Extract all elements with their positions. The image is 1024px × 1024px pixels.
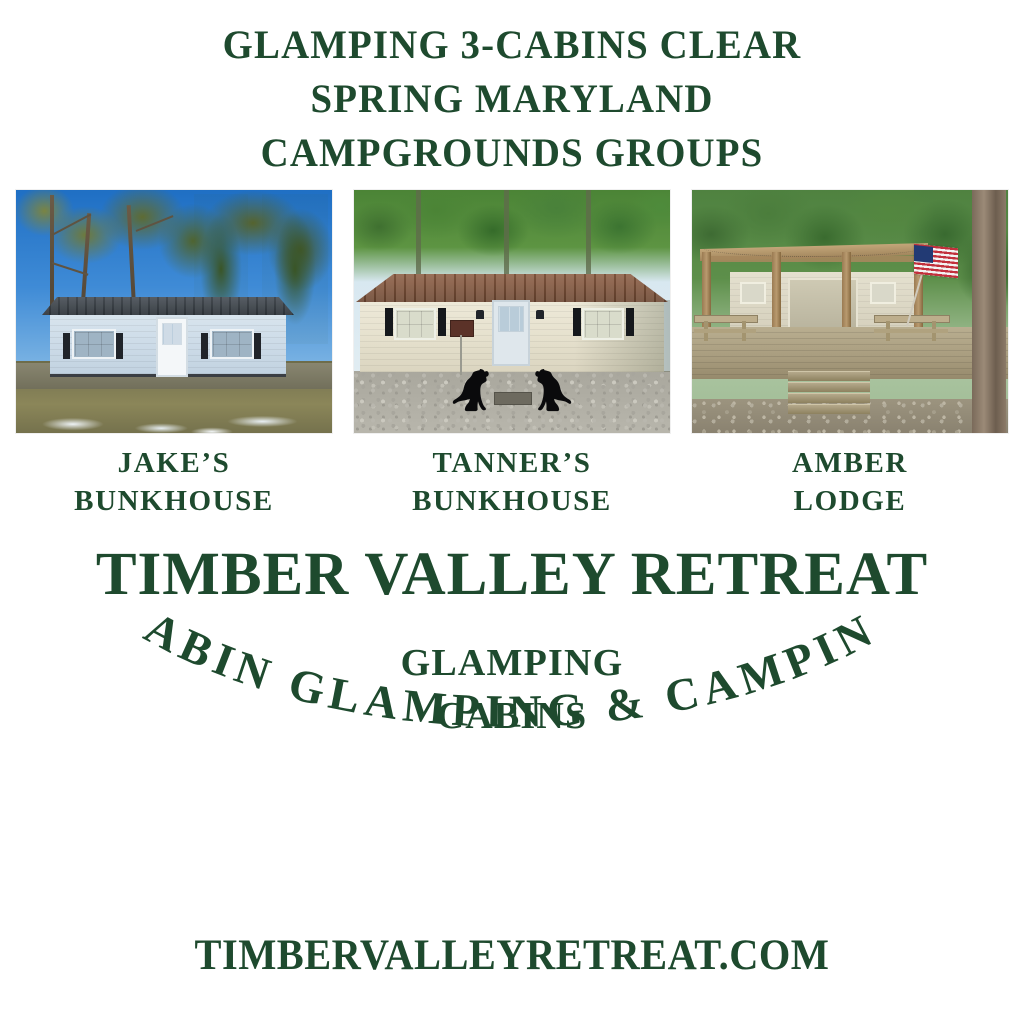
string-lights bbox=[702, 238, 922, 257]
headline-line-3: CAMPGROUNDS GROUPS bbox=[15, 126, 1008, 180]
window-shutter bbox=[201, 333, 208, 359]
brand-subtitle: GLAMPING CABINS bbox=[0, 637, 1024, 743]
black-dog-icon bbox=[530, 363, 574, 413]
subtitle-line-1: GLAMPING bbox=[0, 637, 1024, 690]
cabin-sign bbox=[450, 320, 474, 337]
page-title: GLAMPING 3-CABINS CLEAR SPRING MARYLAND … bbox=[15, 18, 1008, 180]
lodge-window bbox=[870, 282, 896, 304]
picnic-table-icon bbox=[874, 315, 948, 341]
photo-tanners-bunkhouse[interactable] bbox=[354, 190, 670, 433]
foreground-tree-trunk bbox=[972, 190, 1006, 433]
tree-trunk bbox=[504, 190, 509, 286]
window-shutter bbox=[385, 308, 393, 336]
tree-trunk bbox=[586, 190, 591, 286]
cabin-window bbox=[582, 308, 624, 340]
brand-name: TIMBER VALLEY RETREAT bbox=[0, 541, 1024, 609]
caption-line-1: TANNER’S bbox=[354, 444, 670, 482]
cabin-roof bbox=[42, 297, 294, 315]
caption-line-2: LODGE bbox=[692, 482, 1008, 520]
tree-trunk bbox=[416, 190, 421, 286]
cabin-door bbox=[492, 300, 530, 366]
window-shutter bbox=[116, 333, 123, 359]
cabin-door bbox=[156, 317, 188, 377]
black-dog-icon bbox=[450, 363, 494, 413]
window-shutter bbox=[438, 308, 446, 336]
cabin-photo-gallery bbox=[16, 190, 1008, 433]
cabin-captions: JAKE’S BUNKHOUSE TANNER’S BUNKHOUSE AMBE… bbox=[16, 444, 1008, 520]
porch-lamp-icon bbox=[536, 310, 544, 319]
american-flag-icon bbox=[914, 246, 958, 276]
caption-line-2: BUNKHOUSE bbox=[354, 482, 670, 520]
tree-canopy bbox=[354, 190, 670, 282]
snow-patches bbox=[16, 399, 332, 433]
caption-line-1: JAKE’S bbox=[16, 444, 332, 482]
picnic-table-icon bbox=[694, 315, 756, 341]
promotional-poster: GLAMPING 3-CABINS CLEAR SPRING MARYLAND … bbox=[0, 0, 1024, 1024]
window-shutter bbox=[573, 308, 581, 336]
pergola-post bbox=[842, 252, 851, 338]
cabin-window bbox=[394, 308, 436, 340]
door-mat bbox=[494, 392, 532, 405]
caption-tanners-bunkhouse: TANNER’S BUNKHOUSE bbox=[354, 444, 670, 520]
caption-jakes-bunkhouse: JAKE’S BUNKHOUSE bbox=[16, 444, 332, 520]
subtitle-line-2: CABINS bbox=[0, 690, 1024, 743]
headline-line-2: SPRING MARYLAND bbox=[15, 72, 1008, 126]
window-shutter bbox=[254, 333, 261, 359]
headline-line-1: GLAMPING 3-CABINS CLEAR bbox=[15, 18, 1008, 72]
lodge-window bbox=[740, 282, 766, 304]
cabin-window bbox=[72, 329, 116, 359]
window-shutter bbox=[63, 333, 70, 359]
window-shutter bbox=[626, 308, 634, 336]
cabin-roof bbox=[356, 274, 668, 302]
caption-amber-lodge: AMBER LODGE bbox=[692, 444, 1008, 520]
porch-lamp-icon bbox=[476, 310, 484, 319]
cabin-window bbox=[210, 329, 254, 359]
website-url[interactable]: TIMBERVALLEYRETREAT.COM bbox=[31, 931, 994, 980]
deck-steps bbox=[788, 371, 870, 415]
pergola-post bbox=[772, 252, 781, 338]
photo-jakes-bunkhouse[interactable] bbox=[16, 190, 332, 433]
caption-line-2: BUNKHOUSE bbox=[16, 482, 332, 520]
photo-amber-lodge[interactable] bbox=[692, 190, 1008, 433]
caption-line-1: AMBER bbox=[692, 444, 1008, 482]
